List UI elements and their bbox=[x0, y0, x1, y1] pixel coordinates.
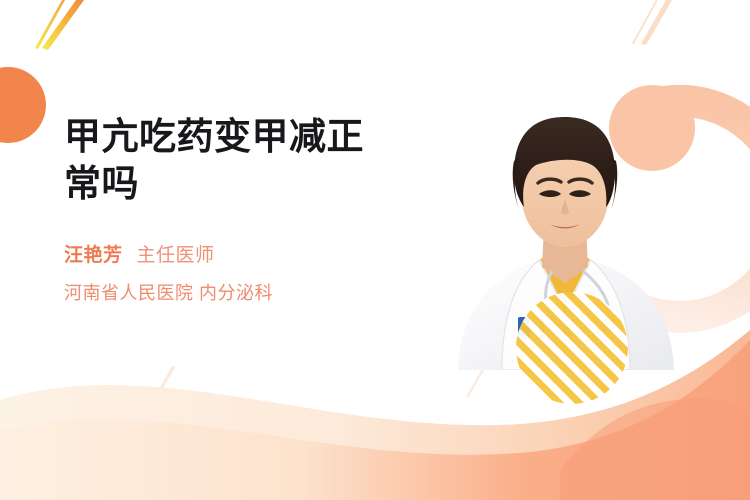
bottom-wave-accent bbox=[560, 398, 750, 500]
doctor-affiliation: 河南省人民医院 内分泌科 bbox=[64, 284, 273, 302]
stripe-pattern bbox=[516, 292, 628, 404]
doctor-name-row: 汪艳芳主任医师 bbox=[64, 246, 273, 265]
orange-circle-icon bbox=[0, 67, 46, 143]
striped-circle-decoration bbox=[516, 292, 628, 404]
doctor-intro-card: 医 甲亢吃药变甲减正 常吗 汪艳芳主任医师 河南省人民医院 内分泌科 bbox=[0, 0, 750, 500]
doctor-credit-block: 汪艳芳主任医师 河南省人民医院 内分泌科 bbox=[64, 246, 273, 302]
doctor-title: 主任医师 bbox=[137, 245, 215, 266]
page-title-line-1: 甲亢吃药变甲减正 bbox=[64, 114, 424, 161]
page-title: 甲亢吃药变甲减正 常吗 bbox=[64, 114, 424, 207]
doctor-name: 汪艳芳 bbox=[64, 245, 123, 266]
page-title-line-2: 常吗 bbox=[64, 161, 424, 208]
